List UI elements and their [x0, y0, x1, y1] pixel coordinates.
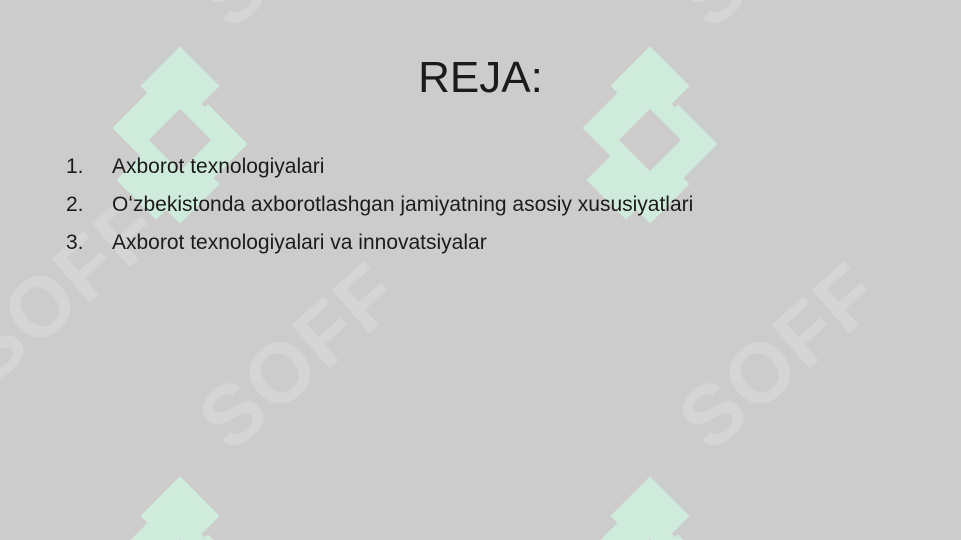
list-item: 2. Oʻzbekistonda axborotlashgan jamiyatn…: [66, 186, 921, 224]
list-item-label: Axborot texnologiyalari: [112, 148, 324, 186]
list-item-label: Axborot texnologiyalari va innovatsiyala…: [112, 224, 487, 262]
list-item-number: 3.: [66, 224, 112, 262]
list-item-label: Oʻzbekistonda axborotlashgan jamiyatning…: [112, 186, 693, 224]
slide-content: REJA: 1. Axborot texnologiyalari 2. Oʻzb…: [0, 0, 961, 540]
agenda-list: 1. Axborot texnologiyalari 2. Oʻzbekisto…: [66, 148, 921, 262]
list-item-number: 2.: [66, 186, 112, 224]
presentation-slide: SOFF SOFF SOFF SOFF SOFF SOFF REJA: 1. A: [0, 0, 961, 540]
list-item-number: 1.: [66, 148, 112, 186]
list-item: 3. Axborot texnologiyalari va innovatsiy…: [66, 224, 921, 262]
list-item: 1. Axborot texnologiyalari: [66, 148, 921, 186]
page-title: REJA:: [0, 52, 961, 104]
